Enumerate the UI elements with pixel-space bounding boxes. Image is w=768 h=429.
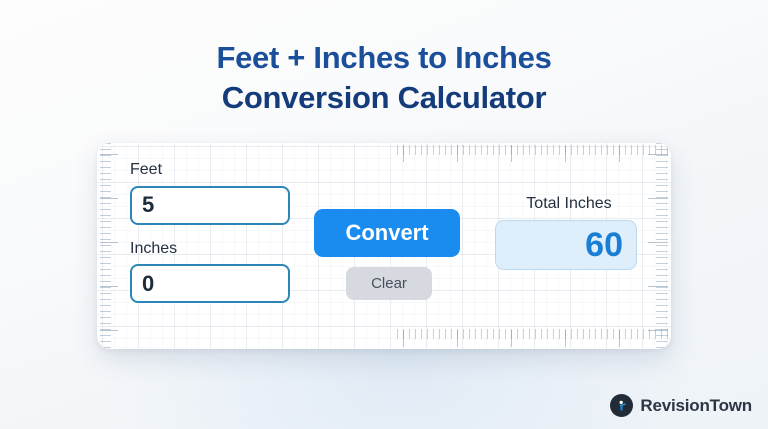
person-in-circle-icon [610,394,633,417]
page-title: Feet + Inches to Inches Conversion Calcu… [0,38,768,117]
total-inches-value: 60 [585,228,623,262]
inputs-column: Feet Inches [130,161,310,303]
brand-logo: RevisionTown [610,394,752,417]
brand-name: RevisionTown [640,396,752,416]
result-column: Total Inches 60 [495,195,643,270]
calculator-content: Feet Inches Convert Clear Total Inches 6… [97,143,671,349]
inches-input[interactable] [130,264,290,303]
total-inches-label: Total Inches [495,195,643,213]
title-line-1: Feet + Inches to Inches [0,38,768,78]
clear-button[interactable]: Clear [346,267,432,300]
inches-label: Inches [130,240,310,258]
calculator-card: Feet Inches Convert Clear Total Inches 6… [97,143,671,349]
total-inches-output: 60 [495,220,637,270]
actions-column: Convert Clear [314,209,464,300]
feet-label: Feet [130,161,310,179]
title-line-2: Conversion Calculator [0,78,768,118]
page-root: Feet + Inches to Inches Conversion Calcu… [0,0,768,429]
feet-input[interactable] [130,186,290,225]
convert-button[interactable]: Convert [314,209,460,257]
